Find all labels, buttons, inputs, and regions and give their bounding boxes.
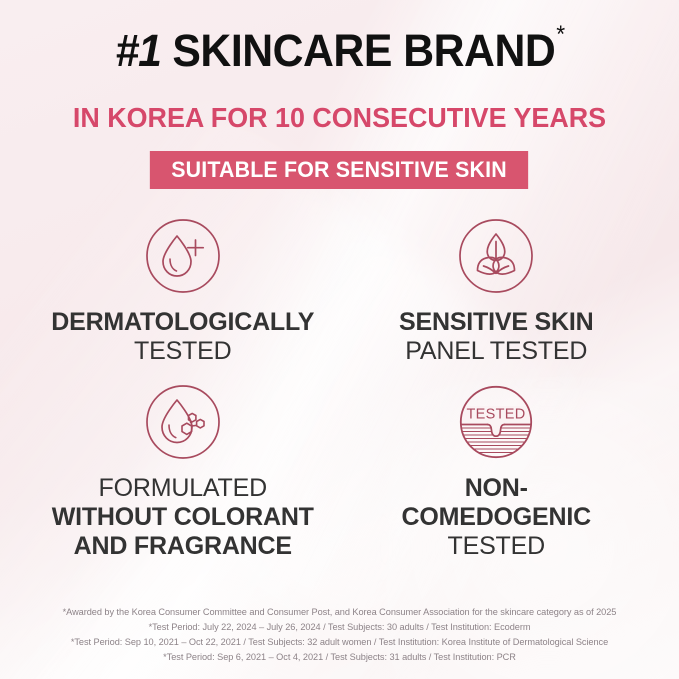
headline-asterisk: * (556, 21, 564, 48)
headline-text: SKINCARE BRAND (161, 25, 555, 76)
footnote-line: *Test Period: Sep 10, 2021 – Oct 22, 202… (0, 635, 679, 650)
droplet-plus-icon (141, 214, 225, 298)
feature-item-non-comedogenic-tested: TESTED NON- COMEDOGENIC TESTED (340, 380, 654, 561)
feature-item-sensitive-skin-panel-tested: SENSITIVE SKIN PANEL TESTED (340, 214, 654, 366)
feature-label-line1: SENSITIVE SKIN (399, 308, 593, 337)
feature-label-line3: TESTED (402, 532, 591, 561)
footnote-line: *Test Period: Sep 6, 2021 – Oct 4, 2021 … (0, 650, 679, 665)
feature-label-line1: DERMATOLOGICALLY (51, 308, 314, 337)
feature-grid: DERMATOLOGICALLY TESTED (26, 214, 653, 561)
pore-icon-label: TESTED (467, 407, 526, 423)
feature-label-line3: AND FRAGRANCE (52, 532, 314, 561)
feature-label: SENSITIVE SKIN PANEL TESTED (399, 308, 593, 366)
footnote-line: *Test Period: July 22, 2024 – July 26, 2… (0, 620, 679, 635)
page-title: #1 SKINCARE BRAND* (17, 28, 662, 73)
feature-label-line2: COMEDOGENIC (402, 503, 591, 532)
feature-item-dermatologically-tested: DERMATOLOGICALLY TESTED (26, 214, 340, 366)
feature-label-line2: TESTED (51, 337, 314, 366)
feature-label: NON- COMEDOGENIC TESTED (402, 474, 591, 561)
feature-label-line2: WITHOUT COLORANT (52, 503, 314, 532)
footnotes: *Awarded by the Korea Consumer Committee… (0, 605, 679, 665)
promo-poster: #1 SKINCARE BRAND* IN KOREA FOR 10 CONSE… (0, 0, 679, 679)
feature-label: DERMATOLOGICALLY TESTED (51, 308, 314, 366)
banner-container: SUITABLE FOR SENSITIVE SKIN (0, 151, 679, 189)
page-subtitle: IN KOREA FOR 10 CONSECUTIVE YEARS (14, 104, 666, 132)
feature-label-line2: PANEL TESTED (399, 337, 593, 366)
feature-label: FORMULATED WITHOUT COLORANT AND FRAGRANC… (52, 474, 314, 561)
pore-tested-icon: TESTED (454, 380, 538, 464)
feature-label-line1: NON- (402, 474, 591, 503)
sensitive-skin-banner: SUITABLE FOR SENSITIVE SKIN (150, 151, 528, 189)
three-leaf-icon (454, 214, 538, 298)
droplet-molecule-icon (141, 380, 225, 464)
feature-label-line1: FORMULATED (52, 474, 314, 503)
headline-rank: #1 (115, 25, 161, 76)
feature-item-formulated-without-colorant-and-fragrance: FORMULATED WITHOUT COLORANT AND FRAGRANC… (26, 380, 340, 561)
footnote-line: *Awarded by the Korea Consumer Committee… (0, 605, 679, 620)
